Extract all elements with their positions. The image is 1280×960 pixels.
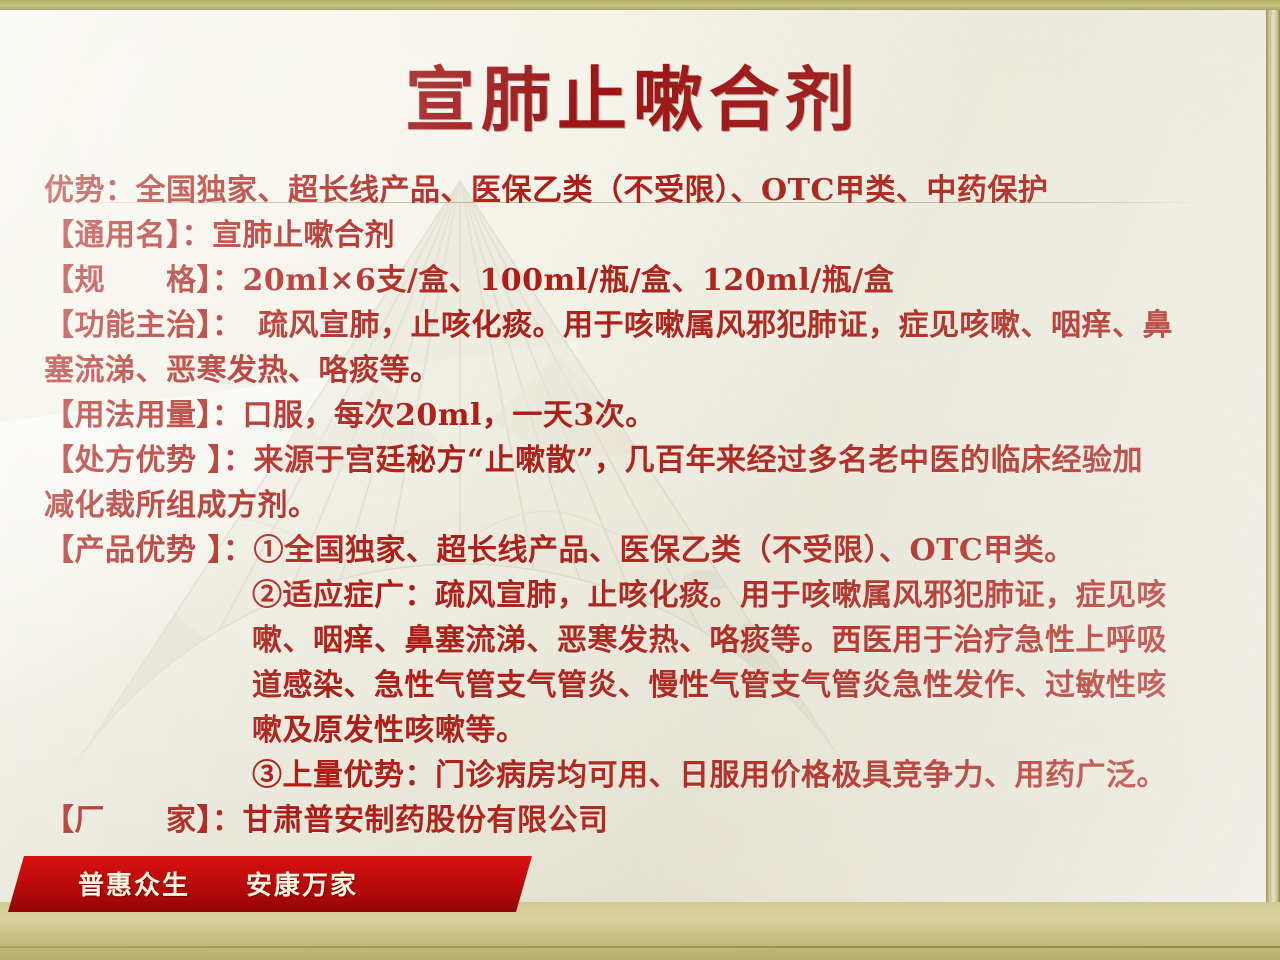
slide-paper-background: 宣肺止嗽合剂 优势：全国独家、超长线产品、医保乙类（不受限）、OTC甲类、中药保… (0, 10, 1266, 912)
frame-right-inner-border (1266, 10, 1270, 912)
body-line: 【规 格】：20ml×6支/盒、100ml/瓶/盒、120ml/瓶/盒 (44, 258, 1244, 303)
body-line: 【用法用量】：口服，每次20ml，一天3次。 (44, 393, 1244, 438)
footer-slogan: 普惠众生 安康万家 (78, 865, 358, 902)
body-line: 【厂 家】：甘肃普安制药股份有限公司 (44, 798, 1244, 843)
body-line: 塞流涕、恶寒发热、咯痰等。 (44, 348, 1244, 393)
body-line: 道感染、急性气管支气管炎、慢性气管支气管炎急性发作、过敏性咳 (44, 663, 1244, 708)
frame-top-border (0, 0, 1280, 10)
body-line: 【处方优势 】：来源于宫廷秘方“止嗽散”，几百年来经过多名老中医的临床经验加 (44, 438, 1244, 483)
body-line: 嗽及原发性咳嗽等。 (44, 708, 1244, 753)
body-line: 【通用名】：宣肺止嗽合剂 (44, 213, 1244, 258)
body-line: ②适应症广：疏风宣肺，止咳化痰。用于咳嗽属风邪犯肺证，症见咳 (44, 573, 1244, 618)
slide-canvas: 宣肺止嗽合剂 优势：全国独家、超长线产品、医保乙类（不受限）、OTC甲类、中药保… (0, 0, 1280, 960)
body-line: 【产品优势 】：①全国独家、超长线产品、医保乙类（不受限）、OTC甲类。 (44, 528, 1244, 573)
body-line: 嗽、咽痒、鼻塞流涕、恶寒发热、咯痰等。西医用于治疗急性上呼吸 (44, 618, 1244, 663)
body-text-block: 优势：全国独家、超长线产品、医保乙类（不受限）、OTC甲类、中药保护 【通用名】… (44, 168, 1244, 843)
body-line: 减化裁所组成方剂。 (44, 483, 1244, 528)
body-line: 【功能主治】： 疏风宣肺，止咳化痰。用于咳嗽属风邪犯肺证，症见咳嗽、咽痒、鼻 (44, 303, 1244, 348)
body-line: ③上量优势：门诊病房均可用、日服用价格极具竞争力、用药广泛。 (44, 753, 1244, 798)
body-line: 优势：全国独家、超长线产品、医保乙类（不受限）、OTC甲类、中药保护 (44, 168, 1244, 213)
page-title: 宣肺止嗽合剂 (0, 44, 1266, 145)
